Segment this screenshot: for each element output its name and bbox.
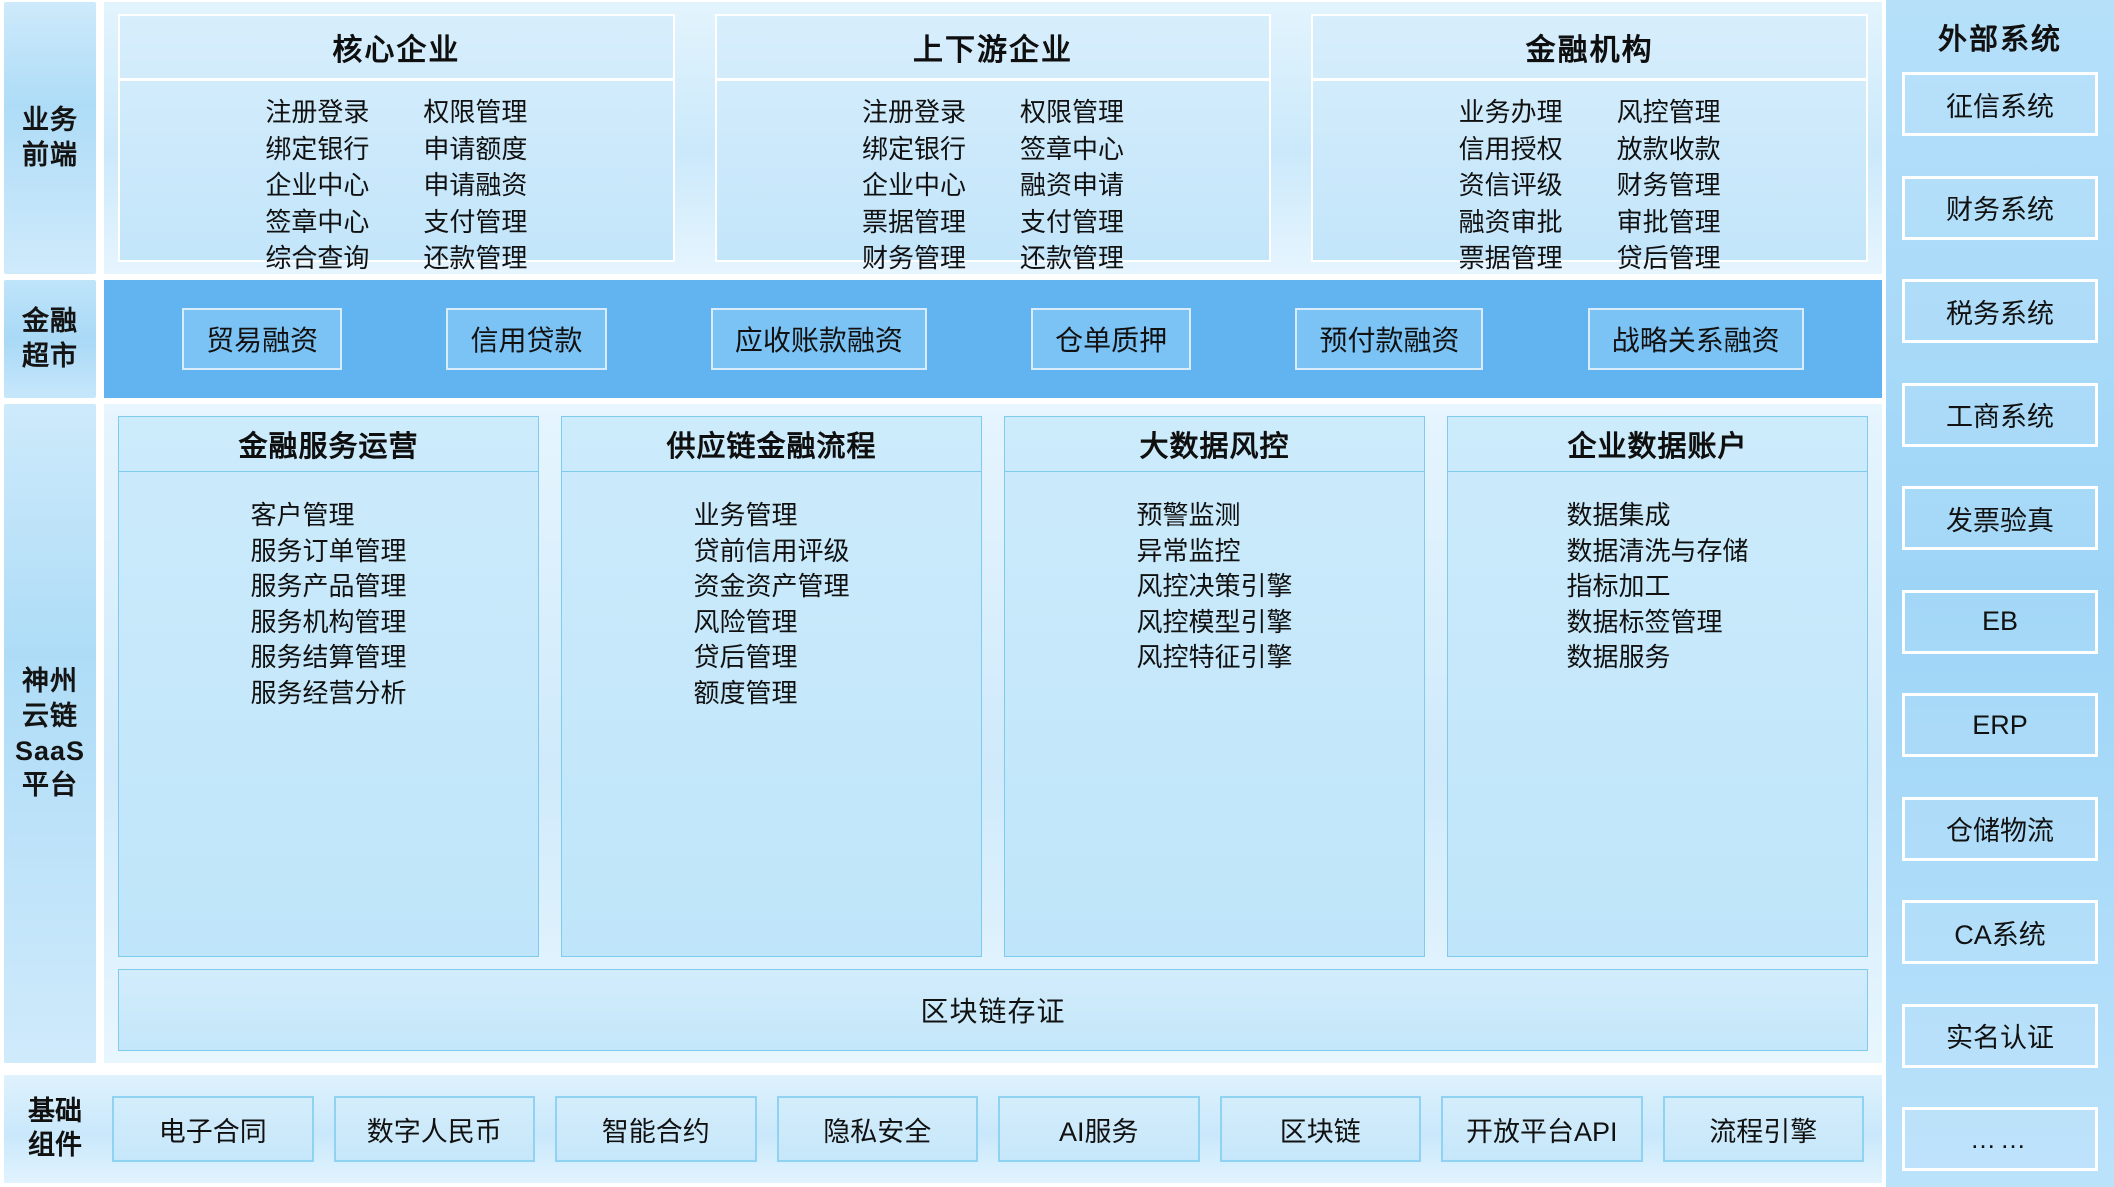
upstream-downstream-title: 上下游企业 bbox=[717, 16, 1270, 81]
list-item[interactable]: 绑定银行 bbox=[862, 132, 966, 167]
upstream-downstream-body: 注册登录 绑定银行 企业中心 票据管理 财务管理 权限管理 签章中心 融资申请 … bbox=[717, 81, 1270, 286]
list-item[interactable]: 风控特征引擎 bbox=[1136, 640, 1292, 676]
core-enterprise-col1: 注册登录 绑定银行 企业中心 签章中心 综合查询 bbox=[265, 95, 369, 276]
list-item[interactable]: 综合查询 bbox=[265, 241, 369, 276]
external-systems-title: 外部系统 bbox=[1938, 16, 2062, 58]
enterprise-data-account-title: 企业数据账户 bbox=[1448, 417, 1867, 472]
external-systems-panel: 外部系统 征信系统 财务系统 税务系统 工商系统 发票验真 EB ERP 仓储物… bbox=[1886, 0, 2114, 1187]
market-chip-strategic-relation-finance[interactable]: 战略关系融资 bbox=[1588, 308, 1804, 370]
list-item[interactable]: 财务管理 bbox=[862, 241, 966, 276]
list-item[interactable]: 支付管理 bbox=[1020, 205, 1124, 240]
core-enterprise-col2: 权限管理 申请额度 申请融资 支付管理 还款管理 bbox=[423, 95, 527, 276]
core-enterprise-title: 核心企业 bbox=[120, 16, 673, 81]
big-data-risk-control-list: 预警监测 异常监控 风控决策引擎 风控模型引擎 风控特征引擎 bbox=[1136, 498, 1292, 676]
list-item[interactable]: 申请额度 bbox=[423, 132, 527, 167]
list-item[interactable]: 签章中心 bbox=[1020, 132, 1124, 167]
enterprise-data-account-list: 数据集成 数据清洗与存储 指标加工 数据标签管理 数据服务 bbox=[1566, 498, 1748, 676]
business-frontend-cards: 核心企业 注册登录 绑定银行 企业中心 签章中心 综合查询 权限管理 申请额度 bbox=[104, 2, 1882, 274]
supply-chain-finance-process-title: 供应链金融流程 bbox=[562, 417, 981, 472]
saas-platform-content: 金融服务运营 客户管理 服务订单管理 服务产品管理 服务机构管理 服务结算管理 … bbox=[104, 404, 1882, 1063]
list-item[interactable]: 业务办理 bbox=[1459, 95, 1563, 130]
financial-service-operation-list: 客户管理 服务订单管理 服务产品管理 服务机构管理 服务结算管理 服务经营分析 bbox=[250, 498, 406, 712]
list-item[interactable]: 贷前信用评级 bbox=[693, 534, 849, 570]
market-chip-warehouse-receipt-pledge[interactable]: 仓单质押 bbox=[1031, 308, 1191, 370]
external-chip-erp[interactable]: ERP bbox=[1902, 693, 2098, 757]
external-chip-warehouse-logistics[interactable]: 仓储物流 bbox=[1902, 797, 2098, 861]
list-item[interactable]: 权限管理 bbox=[423, 95, 527, 130]
main-column: 业务前端 核心企业 注册登录 绑定银行 企业中心 签章中心 综合查询 权限管理 bbox=[0, 0, 1886, 1187]
financial-service-operation-title: 金融服务运营 bbox=[119, 417, 538, 472]
market-chip-prepayment-finance[interactable]: 预付款融资 bbox=[1295, 308, 1483, 370]
business-frontend-band: 业务前端 核心企业 注册登录 绑定银行 企业中心 签章中心 综合查询 权限管理 bbox=[4, 2, 1882, 274]
financial-service-operation-body: 客户管理 服务订单管理 服务产品管理 服务机构管理 服务结算管理 服务经营分析 bbox=[119, 472, 538, 956]
list-item[interactable]: 数据清洗与存储 bbox=[1566, 534, 1748, 570]
list-item[interactable]: 信用授权 bbox=[1459, 132, 1563, 167]
finance-market-chips: 贸易融资 信用贷款 应收账款融资 仓单质押 预付款融资 战略关系融资 bbox=[104, 280, 1882, 398]
list-item[interactable]: 数据标签管理 bbox=[1566, 605, 1748, 641]
list-item[interactable]: 服务经营分析 bbox=[250, 676, 406, 712]
list-item[interactable]: 数据服务 bbox=[1566, 640, 1748, 676]
base-chip-smart-contract[interactable]: 智能合约 bbox=[555, 1096, 757, 1162]
upstream-downstream-enterprise-card[interactable]: 上下游企业 注册登录 绑定银行 企业中心 票据管理 财务管理 权限管理 签章中心 bbox=[715, 14, 1272, 262]
list-item[interactable]: 票据管理 bbox=[1459, 241, 1563, 276]
list-item[interactable]: 贷后管理 bbox=[1617, 241, 1721, 276]
list-item[interactable]: 贷后管理 bbox=[693, 640, 849, 676]
base-chip-privacy-security[interactable]: 隐私安全 bbox=[777, 1096, 979, 1162]
list-item[interactable]: 融资审批 bbox=[1459, 205, 1563, 240]
external-chip-real-name-authentication[interactable]: 实名认证 bbox=[1902, 1004, 2098, 1068]
supply-chain-finance-process-body: 业务管理 贷前信用评级 资金资产管理 风险管理 贷后管理 额度管理 bbox=[562, 472, 981, 956]
external-chip-tax-system[interactable]: 税务系统 bbox=[1902, 279, 2098, 343]
saas-card-row: 金融服务运营 客户管理 服务订单管理 服务产品管理 服务机构管理 服务结算管理 … bbox=[118, 416, 1868, 957]
market-chip-receivables-finance[interactable]: 应收账款融资 bbox=[711, 308, 927, 370]
core-enterprise-body: 注册登录 绑定银行 企业中心 签章中心 综合查询 权限管理 申请额度 申请融资 … bbox=[120, 81, 673, 286]
base-components-content: 基础组件 电子合同 数字人民币 智能合约 隐私安全 AI服务 区块链 开放平台A… bbox=[4, 1075, 1882, 1183]
financial-institution-col2: 风控管理 放款收款 财务管理 审批管理 贷后管理 bbox=[1617, 95, 1721, 276]
upstream-downstream-col2: 权限管理 签章中心 融资申请 支付管理 还款管理 bbox=[1020, 95, 1124, 276]
list-item[interactable]: 服务结算管理 bbox=[250, 640, 406, 676]
list-item[interactable]: 票据管理 bbox=[862, 205, 966, 240]
list-item[interactable]: 还款管理 bbox=[423, 241, 527, 276]
enterprise-data-account-card[interactable]: 企业数据账户 数据集成 数据清洗与存储 指标加工 数据标签管理 数据服务 bbox=[1447, 416, 1868, 957]
external-chip-invoice-verification[interactable]: 发票验真 bbox=[1902, 486, 2098, 550]
market-chip-trade-finance[interactable]: 贸易融资 bbox=[182, 308, 342, 370]
list-item[interactable]: 资金资产管理 bbox=[693, 569, 849, 605]
external-chip-credit-system[interactable]: 征信系统 bbox=[1902, 72, 2098, 136]
financial-institution-title: 金融机构 bbox=[1313, 16, 1866, 81]
base-chip-blockchain[interactable]: 区块链 bbox=[1220, 1096, 1422, 1162]
list-item[interactable]: 签章中心 bbox=[265, 205, 369, 240]
financial-institution-body: 业务办理 信用授权 资信评级 融资审批 票据管理 风控管理 放款收款 财务管理 … bbox=[1313, 81, 1866, 286]
list-item[interactable]: 支付管理 bbox=[423, 205, 527, 240]
list-item[interactable]: 注册登录 bbox=[265, 95, 369, 130]
big-data-risk-control-card[interactable]: 大数据风控 预警监测 异常监控 风控决策引擎 风控模型引擎 风控特征引擎 bbox=[1004, 416, 1425, 957]
list-item[interactable]: 异常监控 bbox=[1136, 534, 1292, 570]
saas-platform-label: 神州云链SaaS平台 bbox=[4, 404, 96, 1063]
base-chip-open-platform-api[interactable]: 开放平台API bbox=[1441, 1096, 1643, 1162]
list-item[interactable]: 注册登录 bbox=[862, 95, 966, 130]
list-item[interactable]: 申请融资 bbox=[423, 168, 527, 203]
business-frontend-label: 业务前端 bbox=[4, 2, 96, 274]
list-item[interactable]: 服务产品管理 bbox=[250, 569, 406, 605]
financial-institution-card[interactable]: 金融机构 业务办理 信用授权 资信评级 融资审批 票据管理 风控管理 放款收款 bbox=[1311, 14, 1868, 262]
list-item[interactable]: 企业中心 bbox=[862, 168, 966, 203]
external-chip-ca-system[interactable]: CA系统 bbox=[1902, 900, 2098, 964]
base-chip-digital-rmb[interactable]: 数字人民币 bbox=[334, 1096, 536, 1162]
list-item[interactable]: 融资申请 bbox=[1020, 168, 1124, 203]
list-item[interactable]: 业务管理 bbox=[693, 498, 849, 534]
list-item[interactable]: 审批管理 bbox=[1617, 205, 1721, 240]
supply-chain-finance-process-list: 业务管理 贷前信用评级 资金资产管理 风险管理 贷后管理 额度管理 bbox=[693, 498, 849, 712]
list-item[interactable]: 风控管理 bbox=[1617, 95, 1721, 130]
list-item[interactable]: 服务机构管理 bbox=[250, 605, 406, 641]
base-chip-ai-service[interactable]: AI服务 bbox=[998, 1096, 1200, 1162]
external-chip-more[interactable]: …… bbox=[1902, 1107, 2098, 1171]
list-item[interactable]: 放款收款 bbox=[1617, 132, 1721, 167]
architecture-diagram: 业务前端 核心企业 注册登录 绑定银行 企业中心 签章中心 综合查询 权限管理 bbox=[0, 0, 2114, 1187]
supply-chain-finance-process-card[interactable]: 供应链金融流程 业务管理 贷前信用评级 资金资产管理 风险管理 贷后管理 额度管… bbox=[561, 416, 982, 957]
external-chip-eb[interactable]: EB bbox=[1902, 590, 2098, 654]
finance-market-band: 金融超市 贸易融资 信用贷款 应收账款融资 仓单质押 预付款融资 战略关系融资 bbox=[4, 280, 1882, 398]
list-item[interactable]: 权限管理 bbox=[1020, 95, 1124, 130]
list-item[interactable]: 企业中心 bbox=[265, 168, 369, 203]
list-item[interactable]: 预警监测 bbox=[1136, 498, 1292, 534]
financial-service-operation-card[interactable]: 金融服务运营 客户管理 服务订单管理 服务产品管理 服务机构管理 服务结算管理 … bbox=[118, 416, 539, 957]
enterprise-data-account-body: 数据集成 数据清洗与存储 指标加工 数据标签管理 数据服务 bbox=[1448, 472, 1867, 956]
list-item[interactable]: 资信评级 bbox=[1459, 168, 1563, 203]
list-item[interactable]: 财务管理 bbox=[1617, 168, 1721, 203]
base-components-label: 基础组件 bbox=[18, 1095, 92, 1163]
external-systems-list: 征信系统 财务系统 税务系统 工商系统 发票验真 EB ERP 仓储物流 CA系… bbox=[1902, 72, 2098, 1177]
big-data-risk-control-body: 预警监测 异常监控 风控决策引擎 风控模型引擎 风控特征引擎 bbox=[1005, 472, 1424, 956]
base-chip-process-engine[interactable]: 流程引擎 bbox=[1663, 1096, 1865, 1162]
external-chip-business-registration-system[interactable]: 工商系统 bbox=[1902, 383, 2098, 447]
list-item[interactable]: 指标加工 bbox=[1566, 569, 1748, 605]
financial-institution-col1: 业务办理 信用授权 资信评级 融资审批 票据管理 bbox=[1459, 95, 1563, 276]
list-item[interactable]: 风控决策引擎 bbox=[1136, 569, 1292, 605]
list-item[interactable]: 还款管理 bbox=[1020, 241, 1124, 276]
base-components-band: 基础组件 电子合同 数字人民币 智能合约 隐私安全 AI服务 区块链 开放平台A… bbox=[4, 1075, 1882, 1183]
core-enterprise-card[interactable]: 核心企业 注册登录 绑定银行 企业中心 签章中心 综合查询 权限管理 申请额度 bbox=[118, 14, 675, 262]
list-item[interactable]: 数据集成 bbox=[1566, 498, 1748, 534]
external-chip-finance-system[interactable]: 财务系统 bbox=[1902, 176, 2098, 240]
list-item[interactable]: 额度管理 bbox=[693, 676, 849, 712]
finance-market-label: 金融超市 bbox=[4, 280, 96, 398]
blockchain-evidence-bar[interactable]: 区块链存证 bbox=[118, 969, 1868, 1051]
upstream-downstream-col1: 注册登录 绑定银行 企业中心 票据管理 财务管理 bbox=[862, 95, 966, 276]
list-item[interactable]: 绑定银行 bbox=[265, 132, 369, 167]
big-data-risk-control-title: 大数据风控 bbox=[1005, 417, 1424, 472]
list-item[interactable]: 客户管理 bbox=[250, 498, 406, 534]
base-chip-electronic-contract[interactable]: 电子合同 bbox=[112, 1096, 314, 1162]
list-item[interactable]: 风控模型引擎 bbox=[1136, 605, 1292, 641]
market-chip-credit-loan[interactable]: 信用贷款 bbox=[446, 308, 606, 370]
list-item[interactable]: 风险管理 bbox=[693, 605, 849, 641]
list-item[interactable]: 服务订单管理 bbox=[250, 534, 406, 570]
saas-platform-band: 神州云链SaaS平台 金融服务运营 客户管理 服务订单管理 服务产品管理 服务机… bbox=[4, 404, 1882, 1063]
